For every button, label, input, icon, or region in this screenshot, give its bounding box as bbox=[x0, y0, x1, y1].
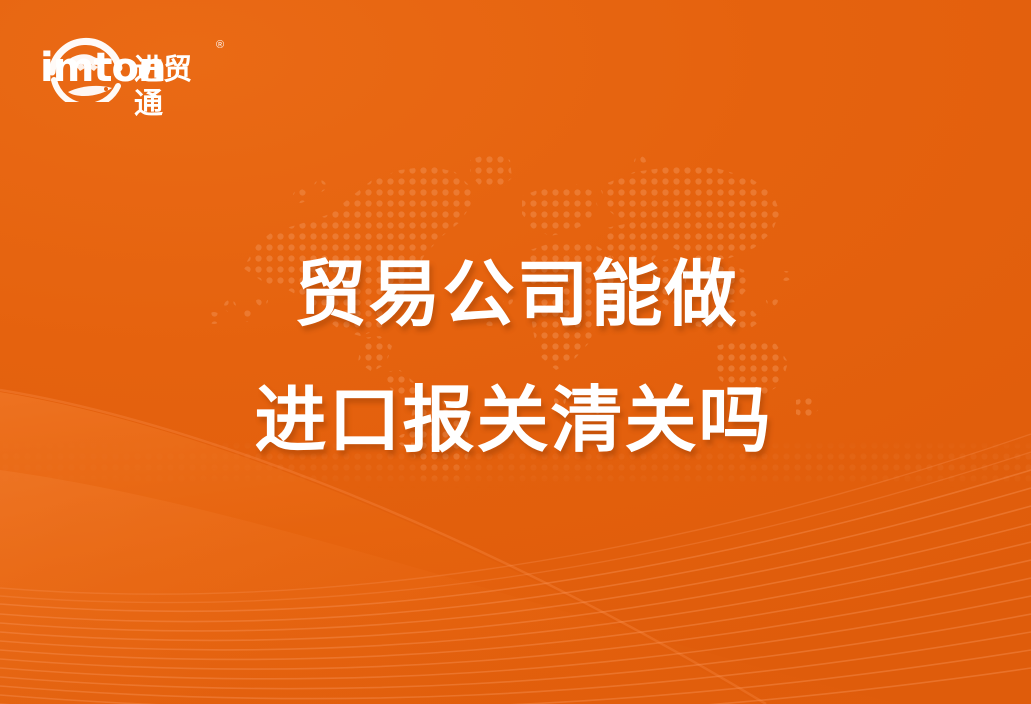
headline-line-2: 进口报关清关吗 bbox=[0, 384, 1031, 456]
logo-wordmark-chinese: 进贸通 bbox=[134, 52, 214, 86]
poster-canvas: imton 进贸通 ® 贸易公司能做 进口报关清关吗 bbox=[0, 0, 1031, 704]
headline-block: 贸易公司能做 进口报关清关吗 bbox=[0, 258, 1031, 456]
headline-line-1: 贸易公司能做 bbox=[2, 258, 1031, 330]
brand-logo: imton 进贸通 ® bbox=[40, 26, 220, 102]
registered-trademark-icon: ® bbox=[216, 40, 224, 51]
